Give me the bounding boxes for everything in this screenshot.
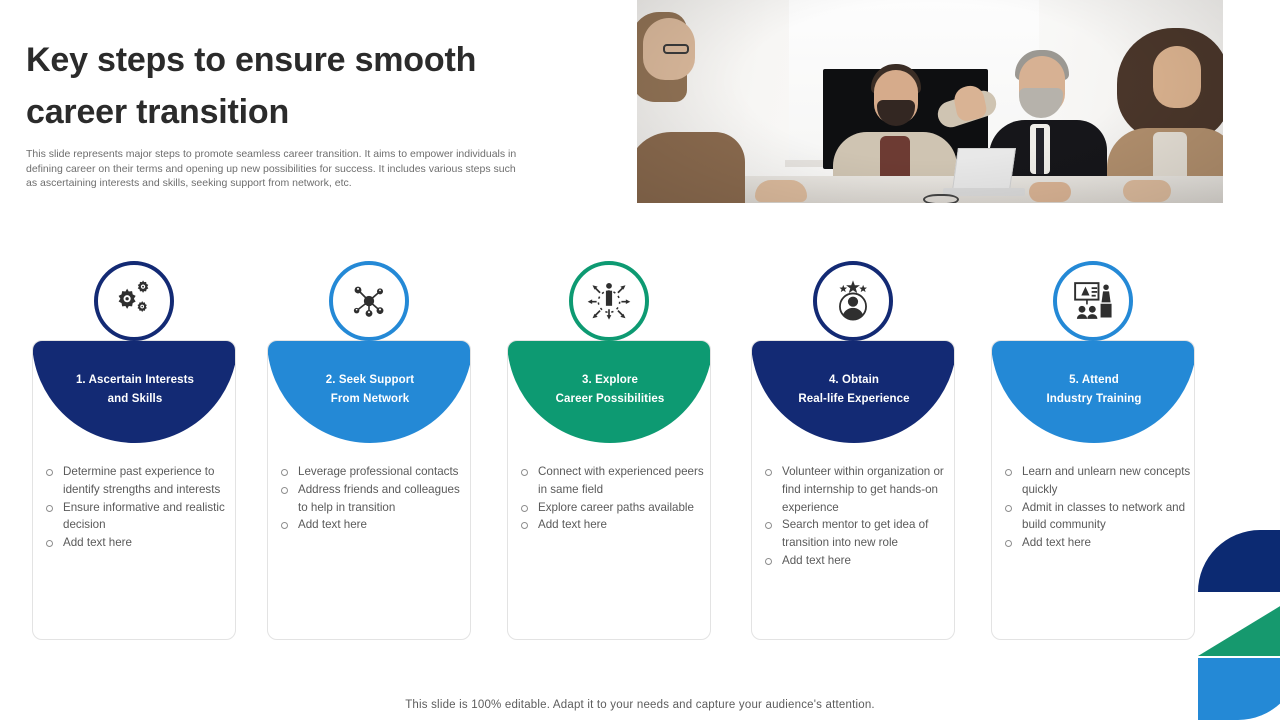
step-header-arc: 2. Seek Support From Network	[267, 340, 471, 443]
list-item: Add text here	[278, 516, 468, 534]
decorative-corner	[1198, 530, 1280, 720]
step-bullet-list: Volunteer within organization or find in…	[762, 463, 952, 570]
list-item: Explore career paths available	[518, 499, 708, 517]
footer-note: This slide is 100% editable. Adapt it to…	[0, 699, 1280, 711]
step-bullet-list: Connect with experienced peers in same f…	[518, 463, 708, 534]
slide-root: Key steps to ensure smooth career transi…	[0, 0, 1280, 720]
step-bullet-list: Learn and unlearn new concepts quicklyAd…	[1002, 463, 1192, 552]
list-item: Learn and unlearn new concepts quickly	[1002, 463, 1192, 499]
star-rated-person-icon	[813, 261, 893, 341]
step-card[interactable]: 3. Explore Career PossibilitiesConnect w…	[507, 340, 711, 640]
step-card[interactable]: 1. Ascertain Interests and SkillsDetermi…	[32, 340, 236, 640]
list-item: Add text here	[518, 516, 708, 534]
corner-segment-green	[1198, 594, 1280, 656]
step-header-arc: 3. Explore Career Possibilities	[507, 340, 711, 443]
hero-image	[637, 0, 1223, 203]
step-title: 3. Explore Career Possibilities	[507, 371, 711, 409]
list-item: Add text here	[762, 552, 952, 570]
step-title: 1. Ascertain Interests and Skills	[32, 371, 236, 409]
step-header-arc: 5. Attend Industry Training	[991, 340, 1195, 443]
list-item: Search mentor to get idea of transition …	[762, 516, 952, 552]
page-description: This slide represents major steps to pro…	[26, 147, 518, 191]
step-bullet-list: Determine past experience to identify st…	[43, 463, 233, 552]
step-header-arc: 4. Obtain Real-life Experience	[751, 340, 955, 443]
list-item: Address friends and colleagues to help i…	[278, 481, 468, 517]
step-title: 2. Seek Support From Network	[267, 371, 471, 409]
list-item: Determine past experience to identify st…	[43, 463, 233, 499]
list-item: Add text here	[43, 534, 233, 552]
step-card[interactable]: 2. Seek Support From NetworkLeverage pro…	[267, 340, 471, 640]
list-item: Ensure informative and realistic decisio…	[43, 499, 233, 535]
list-item: Connect with experienced peers in same f…	[518, 463, 708, 499]
list-item: Leverage professional contacts	[278, 463, 468, 481]
list-item: Add text here	[1002, 534, 1192, 552]
corner-segment-navy	[1198, 530, 1280, 592]
list-item: Admit in classes to network and build co…	[1002, 499, 1192, 535]
step-card[interactable]: 4. Obtain Real-life ExperienceVolunteer …	[751, 340, 955, 640]
step-card[interactable]: 5. Attend Industry TrainingLearn and unl…	[991, 340, 1195, 640]
gears-icon	[94, 261, 174, 341]
person-directions-icon	[569, 261, 649, 341]
step-title: 5. Attend Industry Training	[991, 371, 1195, 409]
network-nodes-icon	[329, 261, 409, 341]
step-header-arc: 1. Ascertain Interests and Skills	[32, 340, 236, 443]
step-bullet-list: Leverage professional contactsAddress fr…	[278, 463, 468, 534]
step-title: 4. Obtain Real-life Experience	[751, 371, 955, 409]
training-presentation-icon	[1053, 261, 1133, 341]
page-title: Key steps to ensure smooth career transi…	[26, 34, 586, 138]
list-item: Volunteer within organization or find in…	[762, 463, 952, 516]
